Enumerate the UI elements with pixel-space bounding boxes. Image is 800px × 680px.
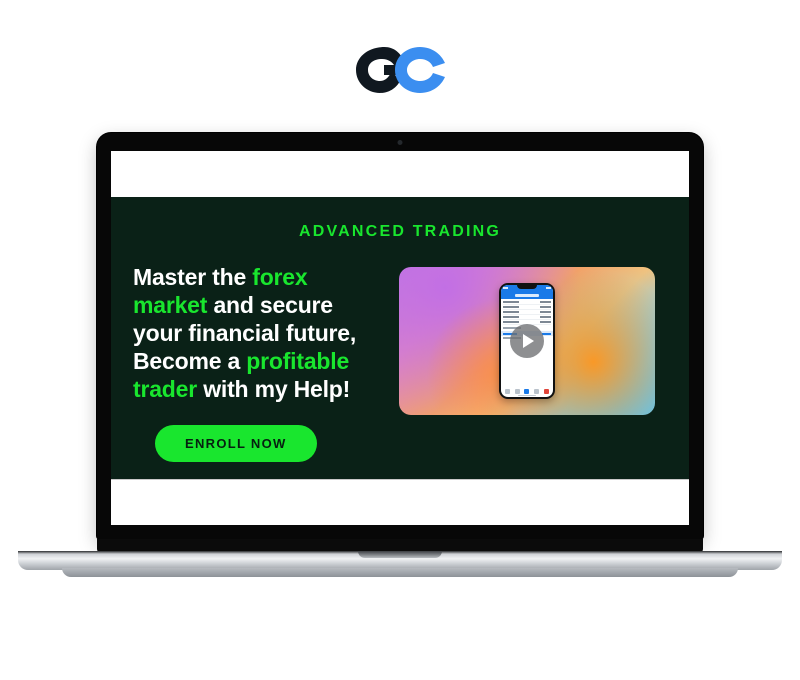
page-bottom-whitespace [111, 479, 689, 525]
promo-video-thumbnail[interactable] [399, 267, 655, 415]
phone-notch [517, 285, 537, 289]
calendar-icon [534, 389, 539, 394]
quote-label [503, 316, 519, 318]
play-button[interactable] [510, 324, 544, 358]
laptop-screen: ADVANCED TRADING Master the forex market… [111, 151, 689, 525]
hero-left-column: Master the forex market and secure your … [133, 263, 385, 462]
app-title-text [515, 294, 539, 297]
hero-section: ADVANCED TRADING Master the forex market… [111, 197, 689, 479]
phone-quote-rows [501, 299, 553, 326]
quote-value [540, 301, 551, 303]
hero-row: Master the forex market and secure your … [111, 241, 689, 462]
laptop-base-foot [62, 568, 738, 577]
status-time [503, 287, 508, 289]
quote-label [503, 301, 519, 303]
headline-part-4: with my Help! [197, 376, 350, 402]
highlight-value [542, 333, 551, 335]
page-top-whitespace [111, 151, 689, 197]
alerts-icon [544, 389, 549, 394]
brand-logo [0, 38, 800, 102]
status-icons [546, 287, 551, 289]
phone-tab-bar [501, 389, 553, 394]
quote-value [540, 311, 551, 313]
enroll-now-button[interactable]: ENROLL NOW [155, 425, 317, 462]
quote-value [540, 321, 551, 323]
quote-label [503, 321, 519, 323]
phone-home-indicator [518, 395, 536, 397]
quote-label [503, 311, 519, 313]
trade-icon [524, 389, 529, 394]
eyebrow-heading: ADVANCED TRADING [111, 197, 689, 241]
quote-label [503, 306, 519, 308]
webcam-dot-icon [398, 140, 403, 145]
list-icon [515, 389, 520, 394]
gc-infinity-logo-icon [348, 41, 452, 99]
phone-app-titlebar [501, 291, 553, 299]
chart-icon [505, 389, 510, 394]
page-headline: Master the forex market and secure your … [133, 263, 385, 403]
laptop-mockup: ADVANCED TRADING Master the forex market… [0, 128, 800, 573]
laptop-lid: ADVANCED TRADING Master the forex market… [97, 133, 703, 539]
quote-value [540, 306, 551, 308]
quote-value [540, 316, 551, 318]
headline-part-0: Master the [133, 264, 252, 290]
